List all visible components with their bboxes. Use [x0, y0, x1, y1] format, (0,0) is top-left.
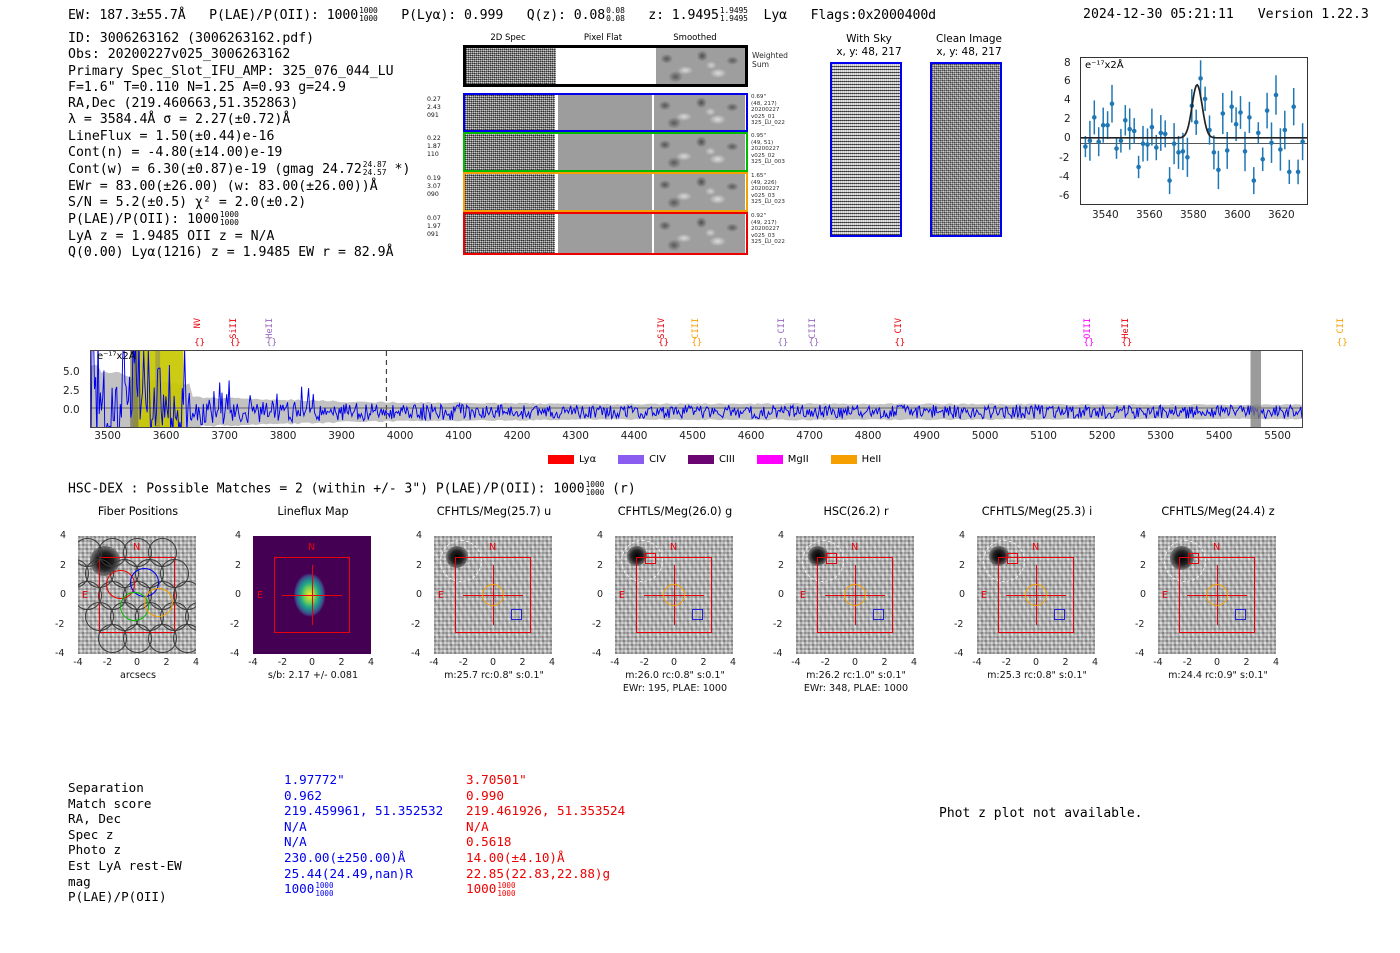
cutout-x-tick: 4 [188, 657, 204, 668]
fiber-pixelflat-image [558, 134, 652, 170]
legend-swatch [688, 455, 714, 464]
cutout-x-tick: 2 [159, 657, 175, 668]
header-ew: EW: 187.3±55.7Å [68, 8, 186, 23]
fiber-row [463, 212, 748, 255]
y-tick: -4 [1059, 171, 1069, 183]
cutout-title: HSC(26.2) r [771, 505, 941, 518]
cutout-x-tick: -4 [70, 657, 86, 668]
match1-value: 0.962 [284, 788, 322, 804]
x-tick: 4100 [443, 430, 475, 442]
spectrum-x-axis-ticks: 3500360037003800390040004100420043004400… [90, 430, 1303, 446]
match2-marker [511, 609, 522, 620]
full-spectrum-chart: NV{}SiII{}HeII{}SiIV{}CIII{}CII{}CIII{}C… [90, 318, 1305, 468]
with-sky-panel: With Sky x, y: 48, 217 [824, 33, 914, 253]
y-tick: 5.0 [63, 366, 80, 378]
cutout-x-tick: -2 [456, 657, 472, 668]
compass-north: N [670, 542, 677, 553]
cutout-x-tick: 2 [1239, 657, 1255, 668]
legend-label: CIV [649, 454, 666, 465]
info-cont-w-post: *) [395, 162, 411, 177]
match1-marker [645, 553, 656, 564]
cutout-x-tick: 0 [485, 657, 501, 668]
fiber-smoothed-image [654, 95, 745, 130]
table-row-label: Separation [68, 780, 144, 796]
compass-east: E [981, 590, 987, 601]
emission-line-label: HeII [1121, 318, 1131, 339]
header-flags: Flags:0x2000400d [811, 8, 936, 23]
emission-line-label: SiII [229, 318, 239, 339]
emission-line-label: CIII [691, 318, 701, 339]
cutout-image [615, 536, 733, 654]
x-tick: 4800 [852, 430, 884, 442]
fiber-left-stats: 0.27 2.43 091 [427, 96, 441, 119]
legend-swatch [548, 455, 574, 464]
cutout-panel-image-4[interactable]: HSC(26.2) rNE420-2-4-4-2024m:26.2 rc:1.0… [781, 505, 971, 735]
cutout-x-tick: 2 [334, 657, 350, 668]
header-plya: P(Lyα): 0.999 [401, 8, 503, 23]
table-row-label: P(LAE)/P(OII) [68, 889, 167, 905]
info-spec-slot: Primary Spec_Slot_IFU_AMP: 325_076_044_L… [68, 64, 410, 80]
fiber-smoothed-image [654, 174, 745, 210]
cutout-caption-secondary: EWr: 195, PLAE: 1000 [580, 683, 770, 694]
match2-value: 0.990 [466, 788, 504, 804]
cutout-caption: m:25.3 rc:0.8" s:0.1" [942, 670, 1132, 681]
x-tick: 5100 [1028, 430, 1060, 442]
weighted-sum-2dspec-image [466, 48, 556, 84]
emission-line-label: CII [777, 318, 787, 334]
cutout-image [796, 536, 914, 654]
cutout-caption-secondary: EWr: 348, PLAE: 1000 [761, 683, 951, 694]
x-tick: 4300 [560, 430, 592, 442]
header-plae-label: P(LAE)/P(OII): 1000 [209, 8, 358, 23]
match1-value: 230.00(±250.00)Å [284, 850, 405, 866]
cutout-x-tick: -4 [245, 657, 261, 668]
line-profile-chart: e⁻¹⁷x2Å 8 6 4 2 0 -2 -4 -6 3540 3560 358… [1040, 55, 1320, 245]
cutout-panel-image-3[interactable]: CFHTLS/Meg(26.0) gNE420-2-4-4-2024m:26.0… [600, 505, 790, 735]
cutout-panel-lineflux-1[interactable]: Lineflux MapNE420-2-4-4-2024s/b: 2.17 +/… [238, 505, 428, 735]
line-profile-svg [1081, 58, 1307, 204]
x-tick: 4700 [794, 430, 826, 442]
cutout-y-tick: 0 [1140, 589, 1146, 600]
fiber-right-meta: 0.95" (49, 51) 20200227 v025_02 325_LU_0… [751, 133, 785, 166]
y-tick: 2.5 [63, 385, 80, 397]
matches-plae-den: 1000 [586, 488, 605, 497]
cutout-x-tick: -2 [100, 657, 116, 668]
emission-line-label: OIII [1083, 318, 1093, 339]
cutout-y-tick: 4 [416, 530, 422, 541]
cutout-x-tick: 2 [696, 657, 712, 668]
cutout-image [253, 536, 371, 654]
header-qz-den: 0.08 [606, 14, 625, 23]
cutout-image [434, 536, 552, 654]
weighted-sum-smoothed-image [656, 48, 745, 84]
compass-north: N [851, 542, 858, 553]
cutout-x-tick: 0 [304, 657, 320, 668]
match2-value: 22.85(22.83,22.88)g [466, 866, 610, 882]
cutout-y-tick: 0 [416, 589, 422, 600]
compass-north: N [308, 542, 315, 553]
header-qz-label: Q(z): 0.08 [527, 8, 605, 23]
x-tick: 4000 [384, 430, 416, 442]
info-lineflux: LineFlux = 1.50(±0.44)e-16 [68, 129, 410, 145]
match2-value: 14.00(±4.10)Å [466, 850, 565, 866]
info-cont-w-pre: Cont(w) = 6.30(±0.87)e-19 (gmag 24.72 [68, 162, 362, 177]
cutout-y-tick: -2 [954, 619, 963, 630]
match1-value: N/A [284, 819, 307, 835]
info-ewr: EWr = 83.00(±26.00) (w: 83.00(±26.00))Å [68, 179, 410, 195]
clean-image-subtitle: x, y: 48, 217 [924, 46, 1014, 58]
x-tick: 3900 [326, 430, 358, 442]
emission-line-brace: {} [1122, 338, 1133, 348]
cutout-y-tick: 2 [597, 560, 603, 571]
cutout-x-tick: -2 [637, 657, 653, 668]
fiber-smoothed-image [654, 214, 745, 253]
cutout-title: Fiber Positions [53, 505, 223, 518]
x-tick: 3540 [1092, 209, 1119, 221]
cutout-image [977, 536, 1095, 654]
compass-east: E [82, 590, 88, 601]
cutout-panel-fibers-0[interactable]: Fiber PositionsNE420-2-4-4-2024arcsecs [63, 505, 253, 735]
cutout-y-tick: -4 [55, 648, 64, 659]
table-row-label: mag [68, 874, 91, 890]
cutout-caption: arcsecs [43, 670, 233, 681]
legend-label: MgII [788, 454, 809, 465]
cutout-y-tick: 2 [1140, 560, 1146, 571]
cutout-title: CFHTLS/Meg(25.7) u [409, 505, 579, 518]
info-seeing: F=1.6" T=0.110 N=1.25 A=0.93 g=24.9 [68, 80, 410, 96]
cutout-x-tick: -2 [999, 657, 1015, 668]
fiber-left-stats: 0.07 1.97 091 [427, 215, 441, 238]
x-tick: 4900 [911, 430, 943, 442]
y-tick: 8 [1064, 57, 1071, 69]
info-cont-w-den: 24.57 [363, 168, 387, 177]
compass-east: E [438, 590, 444, 601]
cutout-y-tick: 0 [959, 589, 965, 600]
match-aperture-circle [1025, 584, 1047, 606]
legend-item: MgII [757, 454, 809, 465]
emission-line-label: NV [193, 318, 203, 328]
cutout-y-tick: 4 [597, 530, 603, 541]
cutout-y-tick: -4 [773, 648, 782, 659]
weighted-sum-row [463, 45, 748, 87]
cutout-y-tick: -4 [1135, 648, 1144, 659]
match2-value: N/A [466, 819, 489, 835]
cutout-y-tick: -2 [411, 619, 420, 630]
cutout-y-tick: -2 [55, 619, 64, 630]
match1-value: 1.97772" [284, 772, 345, 788]
legend-item: Lyα [548, 454, 596, 465]
legend-swatch [618, 455, 644, 464]
emission-line-label: HeII [265, 318, 275, 339]
cutout-y-tick: -4 [592, 648, 601, 659]
cutout-y-tick: 4 [778, 530, 784, 541]
legend-label: CIII [719, 454, 735, 465]
fiber-smoothed-image [654, 134, 745, 170]
header-z-den: 1.9495 [720, 14, 748, 23]
legend-swatch [831, 455, 857, 464]
fiber-2dspec-image [465, 134, 555, 170]
match-aperture-circle [1206, 584, 1228, 606]
cutout-caption: m:24.4 rc:0.9" s:0.1" [1123, 670, 1313, 681]
cutout-y-tick: 0 [60, 589, 66, 600]
cutout-row: Fiber PositionsNE420-2-4-4-2024arcsecsLi… [0, 505, 1400, 735]
emission-line-brace: {} [266, 338, 277, 348]
cutout-caption: m:26.0 rc:0.8" s:0.1" [580, 670, 770, 681]
emission-line-label: SiIV [657, 318, 667, 339]
fiber-row [463, 172, 748, 212]
cutout-x-tick: 4 [1087, 657, 1103, 668]
cutout-x-tick: 0 [1209, 657, 1225, 668]
match-aperture-circle [844, 584, 866, 606]
with-sky-subtitle: x, y: 48, 217 [824, 46, 914, 58]
photz-note: Phot z plot not available. [939, 806, 1143, 821]
fiber-2dspec-image [465, 214, 555, 253]
emission-line-brace: {} [194, 338, 205, 348]
cutout-x-tick: 0 [129, 657, 145, 668]
matches-header: HSC-DEX : Possible Matches = 2 (within +… [68, 481, 636, 497]
cutout-y-tick: 0 [597, 589, 603, 600]
table-row-label: Est LyA rest-EW [68, 858, 182, 874]
match2-plae: 100010001000 [466, 881, 516, 897]
compass-east: E [257, 590, 263, 601]
compass-east: E [1162, 590, 1168, 601]
compass-north: N [133, 542, 140, 553]
x-tick: 4500 [677, 430, 709, 442]
cutout-x-tick: 2 [877, 657, 893, 668]
match1-plae: 100010001000 [284, 881, 334, 897]
clean-image-cutout [930, 62, 1002, 237]
x-tick: 3700 [209, 430, 241, 442]
cutout-panel-image-6[interactable]: CFHTLS/Meg(24.4) zNE420-2-4-4-2024m:24.4… [1143, 505, 1333, 735]
fiber-2dspec-image [465, 174, 555, 210]
info-lambda: λ = 3584.4Å σ = 2.27(±0.72)Å [68, 112, 410, 128]
match1-marker [1007, 553, 1018, 564]
compass-east: E [619, 590, 625, 601]
emission-line-markers: NV{}SiII{}HeII{}SiIV{}CIII{}CII{}CIII{}C… [90, 318, 1303, 350]
spectrum-units-label: e⁻¹⁷x2Å [97, 351, 136, 362]
cutout-x-tick: -4 [426, 657, 442, 668]
x-tick: 5300 [1145, 430, 1177, 442]
info-radec: RA,Dec (219.460663,51.352863) [68, 96, 410, 112]
cutout-y-tick: -4 [411, 648, 420, 659]
cutout-panel-image-2[interactable]: CFHTLS/Meg(25.7) uNE420-2-4-4-2024m:25.7… [419, 505, 609, 735]
weighted-sum-label: Weighted Sum [752, 51, 800, 69]
x-tick: 3500 [92, 430, 124, 442]
panel-title-pixelflat: Pixel Flat [558, 33, 648, 43]
legend-label: Lyα [579, 454, 596, 465]
cutout-x-tick: -2 [1180, 657, 1196, 668]
y-tick: 0.0 [63, 404, 80, 416]
emission-line-brace: {} [1084, 338, 1095, 348]
legend-item: CIV [618, 454, 666, 465]
x-tick: 3560 [1136, 209, 1163, 221]
cutout-y-tick: 4 [1140, 530, 1146, 541]
fiber-left-stats: 0.22 1.87 110 [427, 135, 441, 158]
cutout-y-tick: -2 [1135, 619, 1144, 630]
emission-line-brace: {} [230, 338, 241, 348]
emission-line-label: CIV [894, 318, 904, 334]
cutout-y-tick: -2 [773, 619, 782, 630]
header-species: Lyα [764, 8, 788, 23]
fiber-right-meta: 1.65" (49, 226) 20200227 v025_03 325_LU_… [751, 173, 785, 206]
info-plae-den: 1000 [220, 218, 239, 227]
cutout-y-tick: -4 [954, 648, 963, 659]
fiber-pixelflat-image [558, 95, 652, 130]
info-plae: P(LAE)/P(OII): 100010001000 [68, 211, 410, 228]
cutout-x-tick: -2 [818, 657, 834, 668]
cutout-y-tick: 4 [235, 530, 241, 541]
x-tick: 3580 [1180, 209, 1207, 221]
table-row-label: RA, Dec [68, 811, 121, 827]
x-tick: 3600 [1224, 209, 1251, 221]
cutout-y-tick: -2 [592, 619, 601, 630]
y-tick: 0 [1064, 132, 1071, 144]
header-timestamp-version: 2024-12-30 05:21:11 Version 1.22.3 [1083, 7, 1369, 22]
match1-marker [1188, 553, 1199, 564]
cutout-y-tick: 2 [60, 560, 66, 571]
info-id: ID: 3006263162 (3006263162.pdf) [68, 31, 410, 47]
match1-marker [826, 553, 837, 564]
x-tick: 4400 [618, 430, 650, 442]
x-tick: 5400 [1203, 430, 1235, 442]
cutout-y-tick: 4 [60, 530, 66, 541]
source-info-block: ID: 3006263162 (3006263162.pdf) Obs: 202… [68, 31, 410, 261]
matches-header-text: HSC-DEX : Possible Matches = 2 (within +… [68, 481, 585, 496]
match2-marker [692, 609, 703, 620]
match1-value: 25.44(24.49,nan)R [284, 866, 413, 882]
header-version: Version 1.22.3 [1258, 7, 1369, 22]
cutout-x-tick: 4 [1268, 657, 1284, 668]
match2-value: 0.5618 [466, 834, 512, 850]
cutout-panel-image-5[interactable]: CFHTLS/Meg(25.3) iNE420-2-4-4-2024m:25.3… [962, 505, 1152, 735]
emission-line-label: CII [1336, 318, 1346, 334]
x-tick: 5000 [969, 430, 1001, 442]
cutout-x-tick: -4 [969, 657, 985, 668]
fiber-left-stats: 0.19 3.07 090 [427, 175, 441, 198]
cutout-x-tick: 4 [906, 657, 922, 668]
with-sky-title: With Sky [824, 33, 914, 45]
x-tick: 3600 [150, 430, 182, 442]
cutout-y-tick: 4 [959, 530, 965, 541]
compass-north: N [489, 542, 496, 553]
emission-line-brace: {} [809, 338, 820, 348]
spectrum-legend: LyαCIVCIIIMgIIHeII [548, 452, 903, 466]
cutout-x-tick: -4 [1150, 657, 1166, 668]
legend-item: HeII [831, 454, 882, 465]
match2-value: 219.461926, 51.353524 [466, 803, 625, 819]
spectrum-axes: e⁻¹⁷x2Å [90, 350, 1303, 428]
emission-line-label: CIII [808, 318, 818, 339]
y-tick: -2 [1059, 152, 1069, 164]
x-tick: 5200 [1086, 430, 1118, 442]
header-timestamp: 2024-12-30 05:21:11 [1083, 7, 1234, 22]
with-sky-image [830, 62, 902, 237]
weighted-sum-pixelflat-image [558, 48, 654, 84]
info-obs: Obs: 20200227v025_3006263162 [68, 47, 410, 63]
cutout-title: Lineflux Map [228, 505, 398, 518]
highlighted-fiber-circle [144, 588, 173, 617]
x-tick: 5500 [1262, 430, 1294, 442]
legend-item: CIII [688, 454, 735, 465]
match2-value: 3.70501" [466, 772, 527, 788]
cutout-y-tick: 2 [778, 560, 784, 571]
cutout-image [1158, 536, 1276, 654]
table-row-label: Photo z [68, 842, 121, 858]
crosshair-horizontal [282, 595, 342, 596]
two-d-spectra-panel: 2D Spec Pixel Flat Smoothed Weighted Sum… [455, 33, 805, 258]
fiber-pixelflat-image [558, 214, 652, 253]
fiber-pixelflat-image [558, 174, 652, 210]
y-tick: 4 [1064, 94, 1071, 106]
cutout-x-tick: -4 [607, 657, 623, 668]
cutout-y-tick: -2 [230, 619, 239, 630]
match-aperture-circle [663, 584, 685, 606]
cutout-x-tick: 4 [544, 657, 560, 668]
cutout-y-tick: 2 [959, 560, 965, 571]
cutout-x-tick: 4 [725, 657, 741, 668]
cutout-title: CFHTLS/Meg(25.3) i [952, 505, 1122, 518]
cutout-x-tick: 2 [1058, 657, 1074, 668]
y-tick: -6 [1059, 190, 1069, 202]
x-tick: 3620 [1268, 209, 1295, 221]
cutout-y-tick: -4 [230, 648, 239, 659]
spectrum-svg [91, 351, 1302, 427]
matches-filter: (r) [612, 481, 635, 496]
compass-north: N [1032, 542, 1039, 553]
info-quality: Q(0.00) Lyα(1216) z = 1.9485 EW r = 82.9… [68, 245, 410, 261]
legend-label: HeII [862, 454, 882, 465]
info-redshifts: LyA z = 1.9485 OII z = N/A [68, 229, 410, 245]
cutout-x-tick: 0 [666, 657, 682, 668]
header-plae-den: 1000 [359, 14, 378, 23]
fiber-row [463, 132, 748, 172]
panel-title-2dspec: 2D Spec [463, 33, 553, 43]
x-tick: 4600 [735, 430, 767, 442]
match1-value: 219.459961, 51.352532 [284, 803, 443, 819]
y-tick: 2 [1064, 113, 1071, 125]
match2-marker [1054, 609, 1065, 620]
cutout-y-tick: 0 [235, 589, 241, 600]
info-cont-w: Cont(w) = 6.30(±0.87)e-19 (gmag 24.7224.… [68, 161, 410, 178]
match2-marker [1235, 609, 1246, 620]
match-comparison-table: Separation Match score RA, Dec Spec z Ph… [68, 772, 768, 912]
cutout-x-tick: 4 [363, 657, 379, 668]
match1-value: N/A [284, 834, 307, 850]
cutout-x-tick: 0 [1028, 657, 1044, 668]
emission-line-brace: {} [778, 338, 789, 348]
panel-title-smoothed: Smoothed [650, 33, 740, 43]
match-aperture-circle [482, 584, 504, 606]
clean-image-title: Clean Image [924, 33, 1014, 45]
fiber-right-meta: 0.92" (49, 217) 20200227 v025_03 325_LU_… [751, 213, 785, 246]
x-tick: 3800 [267, 430, 299, 442]
cutout-x-tick: 2 [515, 657, 531, 668]
emission-line-brace: {} [895, 338, 906, 348]
info-snr: S/N = 5.2(±0.5) χ² = 2.0(±0.2) [68, 195, 410, 211]
compass-north: N [1213, 542, 1220, 553]
cutout-caption: m:25.7 rc:0.8" s:0.1" [399, 670, 589, 681]
table-row-label: Spec z [68, 827, 114, 843]
cutout-x-tick: 0 [847, 657, 863, 668]
cutout-y-tick: 2 [235, 560, 241, 571]
fiber-2dspec-image [465, 95, 555, 130]
fiber-row [463, 93, 748, 132]
cutout-title: CFHTLS/Meg(24.4) z [1133, 505, 1303, 518]
cutout-title: CFHTLS/Meg(26.0) g [590, 505, 760, 518]
info-cont-n: Cont(n) = -4.80(±14.00)e-19 [68, 145, 410, 161]
info-plae-label: P(LAE)/P(OII): 1000 [68, 212, 219, 227]
cutout-x-tick: -2 [275, 657, 291, 668]
